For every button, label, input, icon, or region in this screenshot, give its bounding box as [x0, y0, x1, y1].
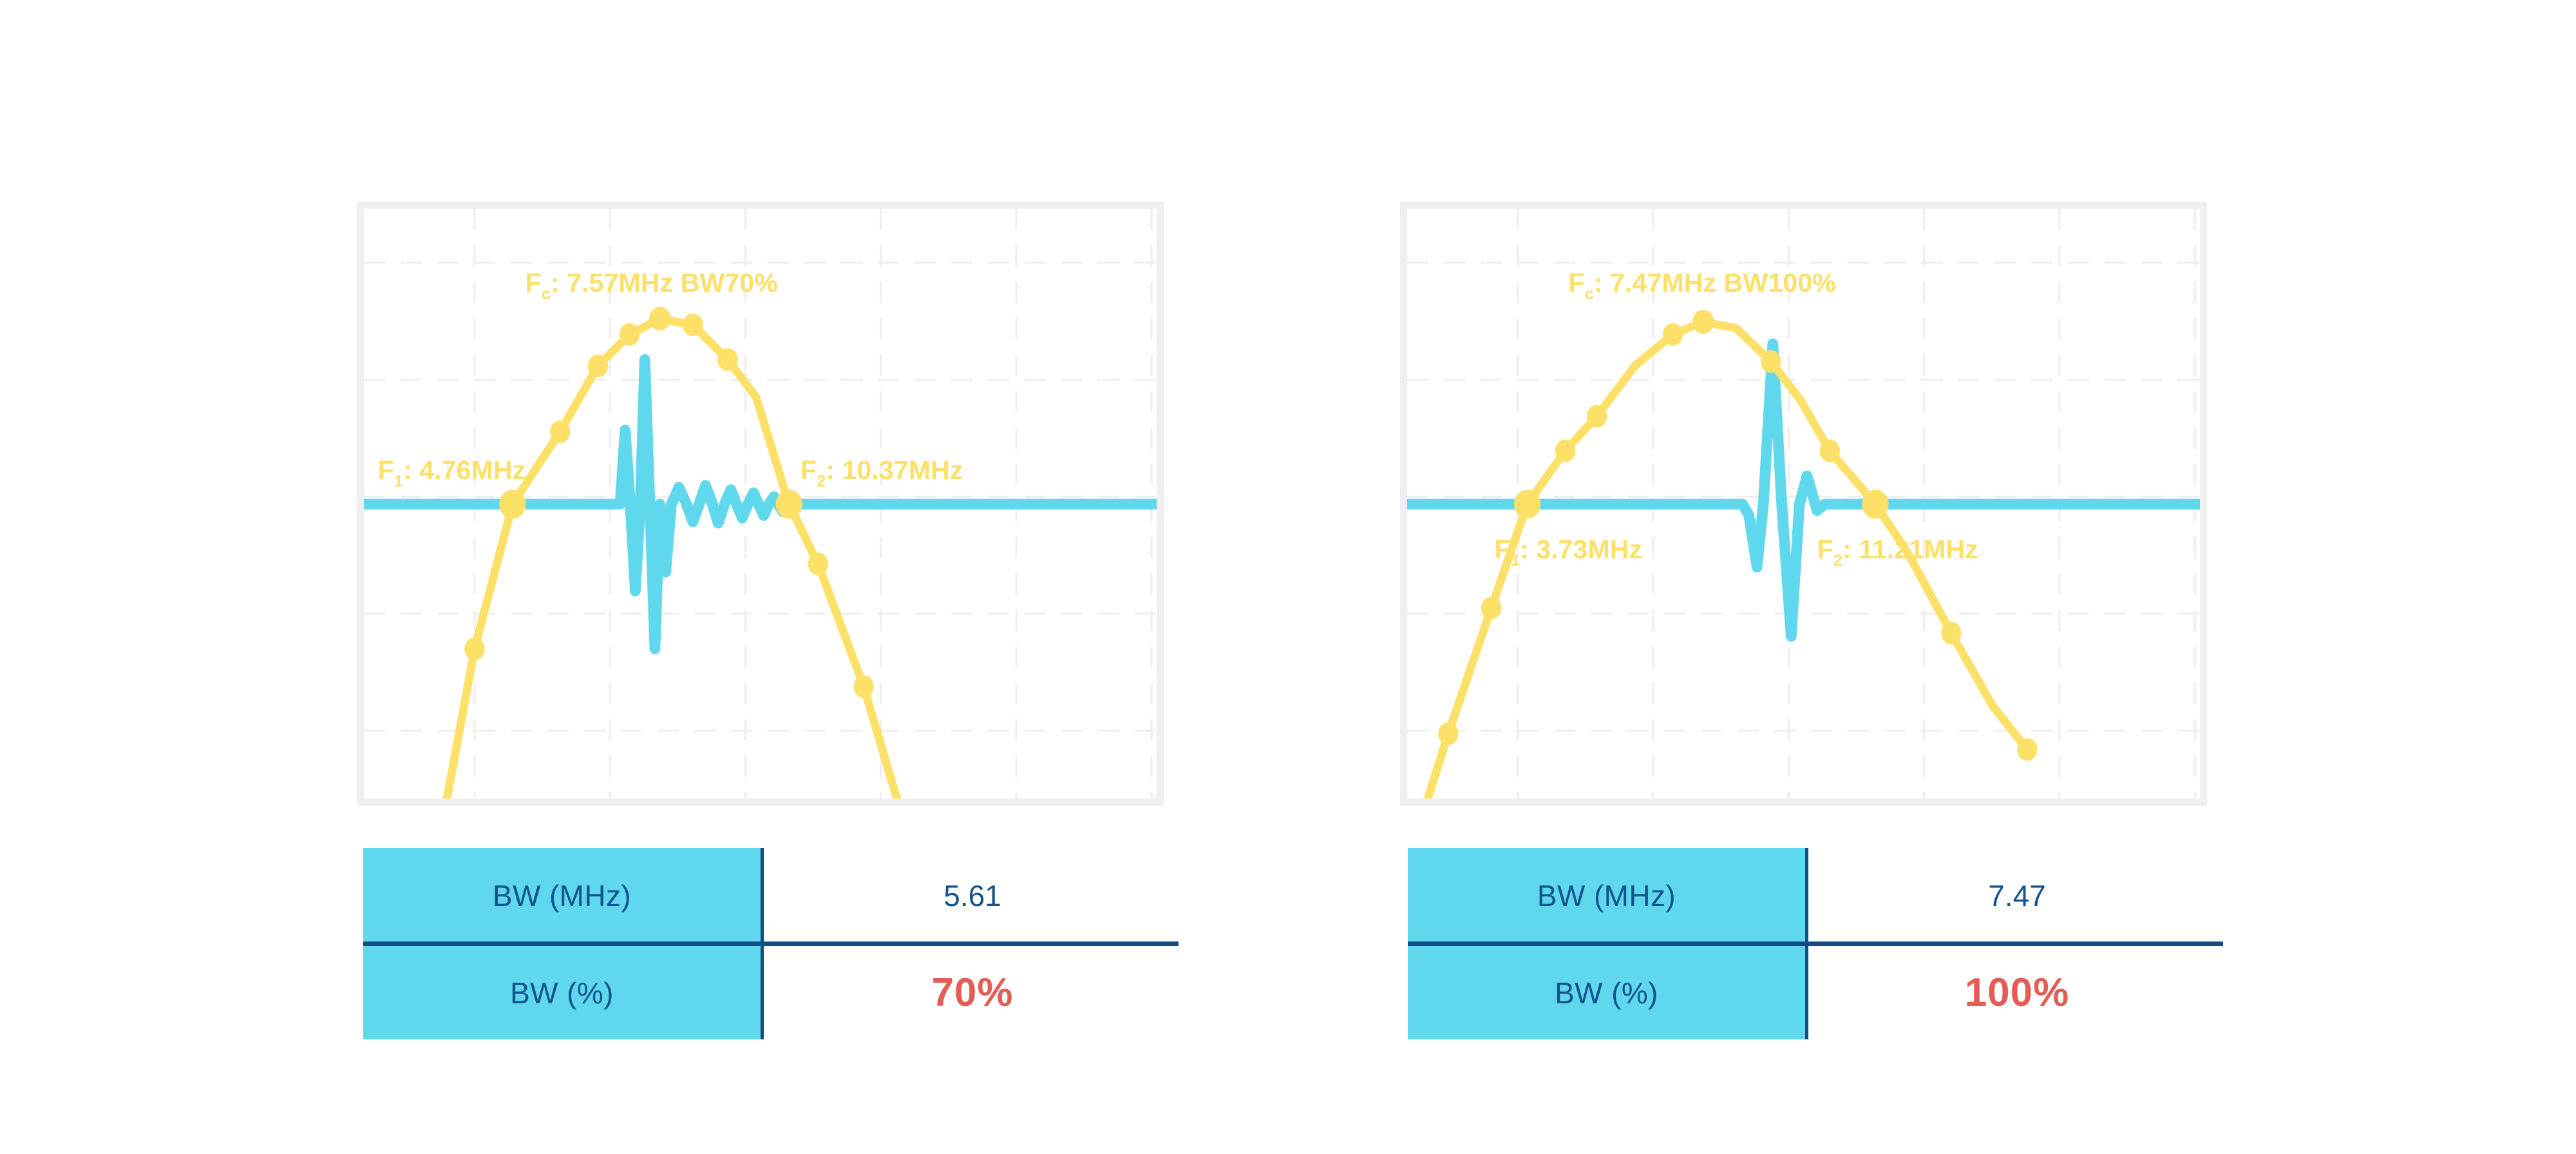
row-value-bw-pct-right: 100%	[1808, 946, 2226, 1039]
f2-label-left: F2: 10.37MHz	[800, 455, 963, 491]
annotation-fc-right: Fc: 7.47MHz BW100% F1: 3.73MHz F2: 11.21…	[1495, 268, 1978, 570]
chart-panel-right: Fc: 7.47MHz BW100% F1: 3.73MHz F2: 11.21…	[1400, 202, 2207, 806]
table-row-divider-right	[1408, 941, 2223, 946]
f1-label-left: F1: 4.76MHz	[378, 455, 526, 491]
row-header-bw-pct-right: BW (%)	[1408, 946, 1808, 1039]
table-row: BW (MHz) 7.47	[1408, 848, 2226, 943]
row-header-bw-pct-left: BW (%)	[363, 946, 764, 1039]
table-row: BW (MHz) 5.61	[363, 848, 1181, 943]
chart-svg-left: Fc: 7.57MHz BW70% F1: 4.76MHz F2: 10.37M…	[364, 209, 1157, 799]
table-row: BW (%) 70%	[363, 946, 1181, 1039]
row-header-bw-mhz-right: BW (MHz)	[1408, 848, 1808, 943]
row-value-bw-mhz-left: 5.61	[764, 848, 1181, 943]
f2-label-right: F2: 11.21MHz	[1817, 534, 1978, 570]
chart-svg-right: Fc: 7.47MHz BW100% F1: 3.73MHz F2: 11.21…	[1407, 209, 2200, 799]
fc-label-right: Fc: 7.47MHz BW100%	[1569, 268, 1836, 303]
bw-table-right: BW (MHz) 7.47 BW (%) 100%	[1408, 848, 2226, 1039]
table-row-divider-left	[363, 941, 1179, 946]
row-value-bw-mhz-right: 7.47	[1808, 848, 2226, 943]
chart-panel-left: Fc: 7.57MHz BW70% F1: 4.76MHz F2: 10.37M…	[357, 202, 1164, 806]
row-value-bw-pct-left: 70%	[764, 946, 1181, 1039]
bw-table-left: BW (MHz) 5.61 BW (%) 70%	[363, 848, 1181, 1039]
table-row: BW (%) 100%	[1408, 946, 2226, 1039]
figure-root: Fc: 7.57MHz BW70% F1: 4.76MHz F2: 10.37M…	[0, 0, 2576, 1154]
row-header-bw-mhz-left: BW (MHz)	[363, 848, 764, 943]
fc-label-left: Fc: 7.57MHz BW70%	[526, 268, 778, 303]
